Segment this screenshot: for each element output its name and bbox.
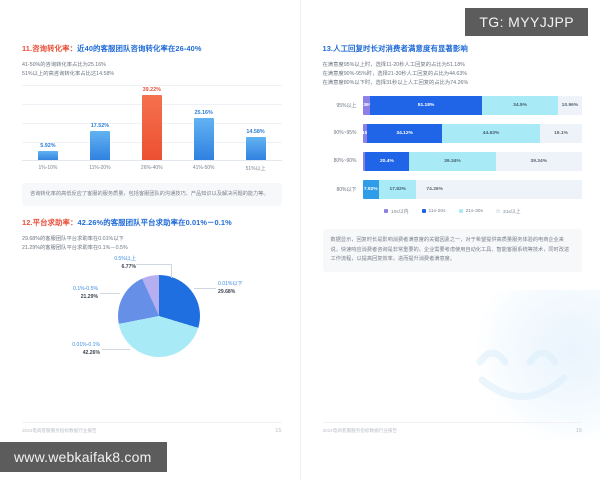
section-13-sub-line-3: 在满意度80%以下时，选择31秒以上人工回复的占比为74.26% xyxy=(323,79,583,88)
x-tick-label: 26%-40% xyxy=(126,161,178,177)
section-12-sub-line-1: 29.68%的客服团队平台求助率在0.01%以下 xyxy=(22,235,282,244)
stack-segment: 7.92% xyxy=(363,180,380,199)
legend-item: 11s-20s xyxy=(422,208,446,215)
section-13-sub-line-1: 在满意度95%以上时，选择11-20秒人工回复的占比为51.18% xyxy=(323,61,583,70)
footer-page-number: 15 xyxy=(275,428,281,434)
stack-segment: 51.18% xyxy=(370,96,482,115)
stack-segment: 39.34% xyxy=(496,152,582,171)
row-label: 80%以下 xyxy=(323,186,363,193)
x-tick-label: 11%-20% xyxy=(74,161,126,177)
stack-segment: 20.4% xyxy=(365,152,410,171)
page-right: 13.人工回复时长对消费者满意度有显著影响 在满意度95%以上时，选择11-20… xyxy=(301,0,600,480)
bar-item: 25.16% xyxy=(178,85,230,161)
pie-label-name: 0.01%以下 xyxy=(218,281,243,287)
section-13-note: 数据显示，回复时长是影响消费者满意度的关键因素之一，对于希望提供高质量服务体验的… xyxy=(323,229,583,272)
footer-note: 2024电商客服服务指标数据行业报告 xyxy=(22,428,97,434)
pie-label-0.01-below: 0.01%以下 29.68% xyxy=(218,281,288,297)
bar-item: 5.92% xyxy=(22,85,74,161)
section-11-sub-line-2: 51%以上的高咨询转化率占比达14.58% xyxy=(22,70,282,79)
pie-leader-line xyxy=(171,264,172,278)
stacked-chart-legend: 10s以内 11s-20s 21s-30s 31s以上 xyxy=(323,208,583,215)
document-spread: 11.咨询转化率：近40的客服团队咨询转化率在26-40% 41-50%的咨询转… xyxy=(0,0,600,480)
pie-leader-line xyxy=(136,264,172,265)
pie-label-value: 29.68% xyxy=(218,289,288,297)
section-13-headline: 13.人工回复时长对消费者满意度有显著影响 xyxy=(323,44,468,53)
legend-label: 31s以上 xyxy=(503,208,521,215)
x-tick-label: 1%-10% xyxy=(22,161,74,177)
stack-segment: 44.63% xyxy=(442,124,540,143)
section-13-sub-line-2: 在满意度90%-95%时，选择21-30秒人工回复的占比为44.63% xyxy=(323,70,583,79)
stack-segment: 19.1% xyxy=(540,124,582,143)
stack-segment: 34.12% xyxy=(367,124,442,143)
stacked-row: 90%~95% 2.15% 34.12% 44.63% 19.1% xyxy=(323,124,583,143)
pie-label-value: 21.29% xyxy=(38,294,98,302)
pie-circle xyxy=(118,275,200,357)
response-time-satisfaction-stacked-bar-chart: 95%以上 3.36% 51.18% 34.5% 10.96% 90%~95% … xyxy=(323,96,583,215)
decorative-smile-icon xyxy=(472,328,592,418)
decorative-tint xyxy=(470,290,600,440)
section-12-headline: 42.26%的客服团队平台求助率在0.01%－0.1% xyxy=(78,218,232,227)
stack-segment: 17.82% xyxy=(379,180,416,199)
section-11-title: 11.咨询转化率：近40的客服团队咨询转化率在26-40% xyxy=(22,44,282,54)
bar-rect xyxy=(194,118,214,161)
consultation-conversion-bar-chart: 5.92% 17.52% 39.22% 25.16% xyxy=(22,85,282,177)
stack-segment: 3.36% xyxy=(363,96,370,115)
stacked-row: 80%以下 7.92% 17.82% 74.26% xyxy=(323,180,583,199)
stacked-track: 7.92% 17.82% 74.26% xyxy=(363,180,583,199)
legend-item: 10s以内 xyxy=(384,208,409,215)
legend-label: 21s-30s xyxy=(466,209,483,214)
pie-label-name: 0.5%以上 xyxy=(114,256,136,262)
stack-segment: 74.26% xyxy=(416,180,582,199)
site-watermark: www.webkaifak8.com xyxy=(0,442,167,472)
bar-rect xyxy=(246,137,266,161)
legend-label: 11s-20s xyxy=(429,209,446,214)
bar-item: 17.52% xyxy=(74,85,126,161)
stack-segment: 10.96% xyxy=(558,96,582,115)
footer-note: 2024电商客服服务指标数据行业报告 xyxy=(323,428,398,434)
section-13-title: 13.人工回复时长对消费者满意度有显著影响 xyxy=(323,44,583,54)
legend-item: 31s以上 xyxy=(496,208,521,215)
pie-label-value: 6.77% xyxy=(80,264,136,272)
section-11-note: 咨询转化率的高低反应了客服的服务质量，包括客服团队的沟通技巧、产品知识以及解决问… xyxy=(22,183,282,207)
stacked-row: 80%~90% 20.4% 39.34% 39.34% xyxy=(323,152,583,171)
section-11-headline: 近40的客服团队咨询转化率在26-40% xyxy=(77,44,201,53)
legend-item: 21s-30s xyxy=(459,208,483,215)
bar-rect xyxy=(142,95,162,161)
pie-label-name: 0.01%-0.1% xyxy=(72,342,100,348)
footer-left: 2024电商客服服务指标数据行业报告 15 xyxy=(22,422,282,434)
platform-help-rate-pie-chart: 0.5%以上 6.77% 0.1%-0.5% 21.29% 0.01%以下 29… xyxy=(22,259,282,367)
pie-label-0.01-0.1: 0.01%-0.1% 42.26% xyxy=(34,342,100,358)
bar-value-label: 39.22% xyxy=(143,87,161,93)
bar-item: 14.58% xyxy=(230,85,282,161)
stack-segment: 39.34% xyxy=(409,152,495,171)
legend-swatch-icon xyxy=(496,209,500,213)
row-label: 80%~90% xyxy=(323,158,363,164)
row-label: 95%以上 xyxy=(323,102,363,109)
section-13-subtext: 在满意度95%以上时，选择11-20秒人工回复的占比为51.18% 在满意度90… xyxy=(323,61,583,88)
pie-label-name: 0.1%-0.5% xyxy=(73,286,98,292)
stacked-track: 2.15% 34.12% 44.63% 19.1% xyxy=(363,124,583,143)
pie-leader-line xyxy=(102,349,130,350)
tg-watermark-badge: TG: MYYJJPP xyxy=(465,8,588,36)
bar-rect xyxy=(90,131,110,161)
section-12-title: 12.平台求助率：42.26%的客服团队平台求助率在0.01%－0.1% xyxy=(22,218,282,228)
pie-label-value: 42.26% xyxy=(34,350,100,358)
bar-chart-x-axis: 1%-10% 11%-20% 26%-40% 41%-50% 51%以上 xyxy=(22,160,282,177)
pie-leader-line xyxy=(194,288,216,289)
section-12-sub-line-2: 21.29%的客服团队平台求助率在0.1%－0.5% xyxy=(22,244,282,253)
bar-value-label: 14.58% xyxy=(246,129,264,135)
bar-series: 5.92% 17.52% 39.22% 25.16% xyxy=(22,85,282,161)
legend-label: 10s以内 xyxy=(391,208,409,215)
legend-swatch-icon xyxy=(459,209,463,213)
section-12-index: 12.平台求助率： xyxy=(22,218,78,227)
footer-right: 2024电商客服服务指标数据行业报告 16 xyxy=(323,422,583,434)
section-11-index: 11.咨询转化率： xyxy=(22,44,77,53)
pie-leader-line xyxy=(100,293,120,294)
x-tick-label: 41%-50% xyxy=(178,161,230,177)
x-tick-label: 51%以上 xyxy=(230,161,282,177)
bar-item-highlight: 39.22% xyxy=(126,85,178,161)
section-11-subtext: 41-50%的咨询转化率占比为25.16% 51%以上的高咨询转化率占比达14.… xyxy=(22,61,282,79)
stacked-track: 20.4% 39.34% 39.34% xyxy=(363,152,583,171)
stacked-row: 95%以上 3.36% 51.18% 34.5% 10.96% xyxy=(323,96,583,115)
legend-swatch-icon xyxy=(384,209,388,213)
bar-value-label: 17.52% xyxy=(91,123,109,129)
bar-value-label: 5.92% xyxy=(40,143,55,149)
section-11-sub-line-1: 41-50%的咨询转化率占比为25.16% xyxy=(22,61,282,70)
stacked-track: 3.36% 51.18% 34.5% 10.96% xyxy=(363,96,583,115)
page-left: 11.咨询转化率：近40的客服团队咨询转化率在26-40% 41-50%的咨询转… xyxy=(0,0,301,480)
pie-label-0.1-0.5: 0.1%-0.5% 21.29% xyxy=(38,286,98,302)
bar-value-label: 25.16% xyxy=(195,110,213,116)
section-12-subtext: 29.68%的客服团队平台求助率在0.01%以下 21.29%的客服团队平台求助… xyxy=(22,235,282,253)
footer-page-number: 16 xyxy=(576,428,582,434)
legend-swatch-icon xyxy=(422,209,426,213)
stack-segment: 34.5% xyxy=(482,96,558,115)
row-label: 90%~95% xyxy=(323,130,363,136)
pie-label-0.5-above: 0.5%以上 6.77% xyxy=(80,256,136,272)
